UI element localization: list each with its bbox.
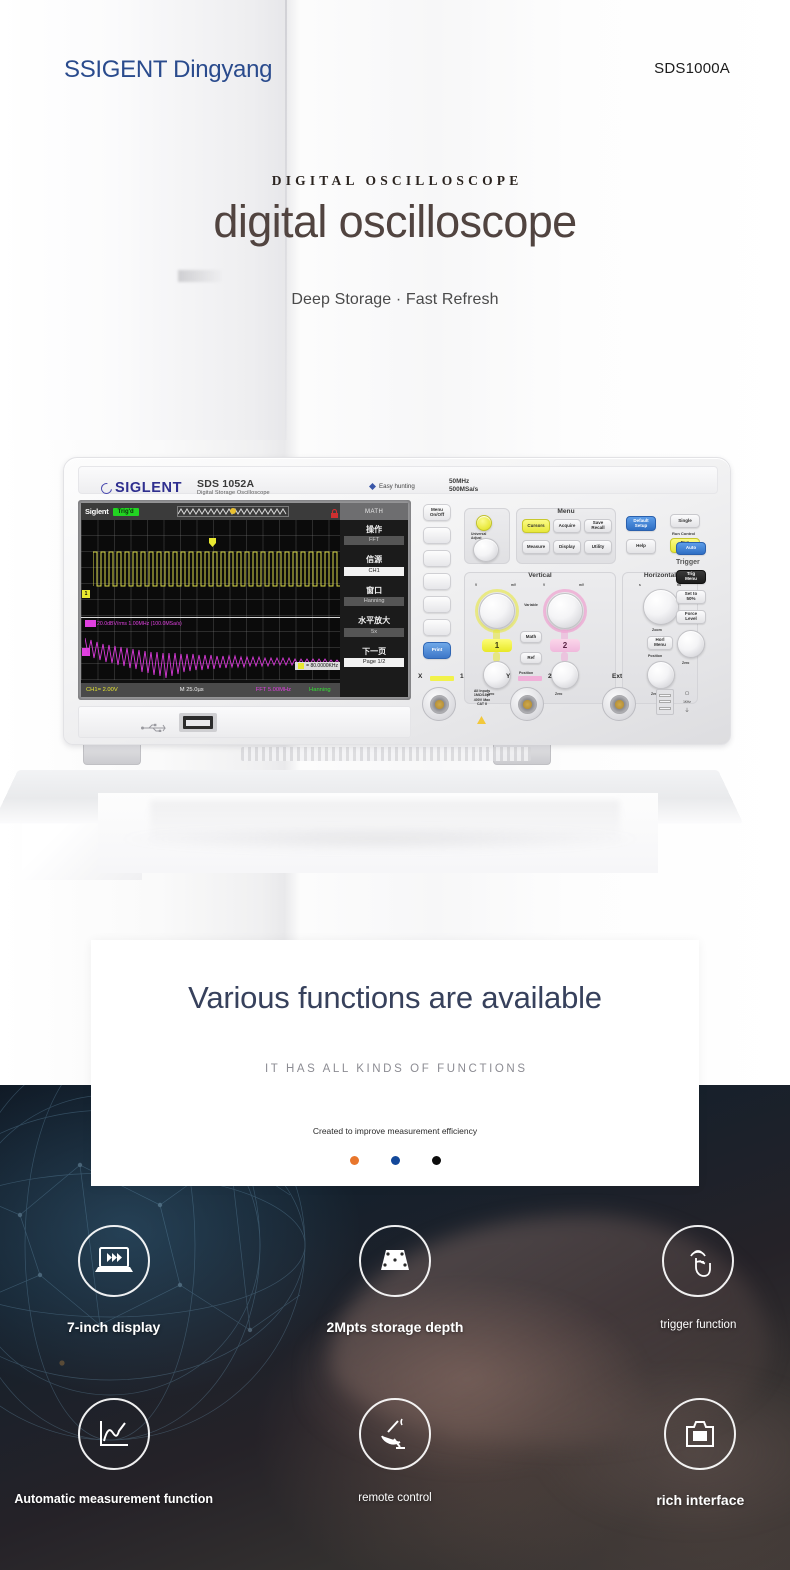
menu-item-label: 水平放大 [340, 617, 408, 626]
siglent-swirl-icon [99, 480, 114, 495]
card-subtitle: IT HAS ALL KINDS OF FUNCTIONS [91, 1063, 699, 1075]
status-window: Hanning [309, 687, 331, 693]
waveform-chart-icon [78, 1398, 150, 1470]
section-intro-card: Various functions are available IT HAS A… [91, 940, 699, 1186]
scope-chassis: SIGLENT SDS 1052A Digital Storage Oscill… [63, 457, 731, 745]
ch2-button[interactable]: 2 [550, 639, 580, 652]
scope-display: Siglent Trig'd [81, 503, 408, 697]
variable-label: Variable [520, 603, 542, 607]
feature-label: rich interface [656, 1492, 744, 1508]
scope-model-number: SDS 1052A [197, 478, 270, 490]
satellite-dish-icon [359, 1398, 431, 1470]
trigger-level-knob[interactable] [677, 630, 705, 658]
force-level-button[interactable]: ForceLevel [676, 610, 706, 624]
storage-depth-icon [359, 1225, 431, 1297]
print-button[interactable]: Print [423, 642, 451, 659]
universal-knob-led [476, 515, 492, 531]
waveform-area: Siglent Trig'd [81, 503, 340, 697]
menu-item-label: 窗口 [340, 587, 408, 596]
menu-item-value: CH1 [344, 567, 404, 576]
display-button[interactable]: Display [553, 540, 581, 554]
usb-port-inner [183, 716, 213, 729]
menu-item-label: 信源 [340, 556, 408, 565]
display-status-bar: CH1= 2.00V M 25.0µs FFT 5.00MHz Hanning [81, 683, 345, 697]
ext-trigger-label: Ext [612, 673, 622, 680]
display-brand-label: Siglent [85, 507, 109, 516]
zoom-label: Zoom [652, 628, 662, 632]
softkey-1[interactable] [423, 527, 451, 544]
dot-indicator-3[interactable] [432, 1156, 441, 1165]
ch2-color-swatch [518, 676, 542, 681]
feature-label: remote control [358, 1492, 432, 1504]
scope-foot-left [83, 743, 141, 765]
input-rating-note: All Inputs1MΩ/18pf400V MaxCAT II [464, 689, 500, 707]
feature-row-2: Automatic measurement function remote co… [0, 1398, 790, 1508]
ground-icon: ⏚ [684, 707, 689, 714]
front-panel-strip [78, 706, 411, 738]
usb-host-port[interactable] [179, 713, 217, 732]
carousel-dots [91, 1156, 699, 1165]
easy-hunting-badge: Easy hunting [369, 483, 415, 490]
ch2-scale-max-label: mV [579, 583, 584, 587]
hero-kicker: DIGITAL OSCILLOSCOPE [0, 173, 790, 189]
usb-symbol-icon [141, 719, 167, 728]
channel2-color-chip [85, 620, 96, 627]
softkey-4[interactable] [423, 596, 451, 613]
save-recall-button[interactable]: SaveRecall [584, 519, 612, 533]
input-connector-row: X 1 All Inputs1MΩ/18pf400V MaxCAT II Y 2… [416, 673, 718, 737]
channel1-ground-marker: 1 [82, 590, 90, 598]
probe-comp-icons: ⎔ 1KHz ⏚ [678, 689, 696, 715]
feature-label: Automatic measurement function [14, 1492, 213, 1506]
y-axis-label: Y [506, 673, 510, 680]
scope-display-frame: Siglent Trig'd [78, 500, 411, 700]
touch-trigger-icon [662, 1225, 734, 1297]
measure-button[interactable]: Measure [522, 540, 550, 554]
brand-logo-text: SSIGENT Dingyang [64, 56, 272, 84]
fft-info-label: 20.0dBV/rms 1.00MHz (100.0MSa/s) [97, 621, 182, 627]
dot-indicator-2[interactable] [391, 1156, 400, 1165]
menu-item-value: 5x [344, 628, 404, 637]
square-wave-icon: ⎔ [685, 691, 689, 697]
feature-grid: 7-inch display 2Mpts storage depth [0, 1225, 790, 1508]
menu-item-value: Page 1/2 [344, 658, 404, 667]
feature-item-interface[interactable]: rich interface [569, 1398, 790, 1508]
cursor-readout-value: = 80.0000KHz [306, 663, 338, 669]
ch1-scale-max-label: mV [511, 583, 516, 587]
acquire-button[interactable]: Acquire [553, 519, 581, 533]
card-title: Various functions are available [91, 980, 699, 1016]
scope-top-bezel: SIGLENT SDS 1052A Digital Storage Oscill… [78, 466, 718, 494]
display-softkey-menu: MATH 操作 FFT 信源 CH1 窗口 Hanning [340, 503, 408, 697]
menu-item-value: Hanning [344, 597, 404, 606]
single-button[interactable]: Single [670, 514, 700, 528]
set-to-50-button[interactable]: Set to50% [676, 590, 706, 604]
trigger-group-label: Trigger [676, 559, 700, 566]
horizontal-position-label: Position [648, 654, 662, 658]
warning-triangle-icon [477, 716, 486, 724]
laptop-fast-forward-icon [78, 1225, 150, 1297]
lock-icon [330, 506, 339, 516]
oscilloscope-product-image: SIGLENT SDS 1052A Digital Storage Oscill… [63, 457, 731, 755]
display-topbar: Siglent Trig'd [81, 503, 345, 520]
trigger-zero-label: Zero [682, 661, 689, 665]
ch2-bnc-connector[interactable] [510, 687, 544, 721]
bnc-center-pin [610, 695, 629, 714]
model-series-tag: SDS1000A [654, 60, 730, 77]
auto-button[interactable]: Auto [676, 542, 706, 555]
status-fft-freq: FFT 5.00MHz [256, 687, 291, 693]
bnc-center-pin [518, 695, 537, 714]
menu-item-label: 下一页 [340, 648, 408, 657]
feature-item-remote[interactable]: remote control [263, 1398, 526, 1508]
menu-item[interactable]: 下一页 Page 1/2 [340, 642, 408, 673]
ch1-button[interactable]: 1 [482, 639, 512, 652]
menu-item-value: FFT [344, 536, 404, 545]
ch1-input-number: 1 [460, 673, 464, 680]
ports-interface-icon [664, 1398, 736, 1470]
cursor-frequency-readout: = 80.0000KHz [295, 662, 341, 670]
default-setup-button[interactable]: DefaultSetup [626, 516, 656, 531]
universal-knob-group: UniversalAdjust [464, 508, 510, 564]
softkey-5[interactable] [423, 619, 451, 636]
trigger-status-badge: Trig'd [113, 508, 139, 516]
feature-item-trigger[interactable]: trigger function [567, 1225, 790, 1335]
menu-item[interactable]: 操作 FFT [340, 520, 408, 551]
waveform-grid: 1 20.0dBV/rms 1.00MHz (100.0MSa/s) [81, 520, 345, 680]
cursors-button[interactable]: Cursors [522, 519, 550, 533]
status-ch1-scale: CH1= 2.00V [86, 687, 118, 693]
scope-model-subtitle: Digital Storage Oscilloscope [197, 490, 270, 496]
ch2-volts-div-knob[interactable] [547, 593, 583, 629]
scope-samplerate: 500MSa/s [449, 486, 478, 494]
bnc-center-pin [430, 695, 449, 714]
menu-title: MATH [340, 503, 408, 520]
hero-tagline: Deep Storage · Fast Refresh [0, 291, 790, 309]
universal-adjust-knob[interactable] [473, 538, 499, 562]
feature-item-auto-measure[interactable]: Automatic measurement function [0, 1398, 245, 1508]
probe-comp-terminal[interactable] [656, 689, 674, 715]
scope-model-block: SDS 1052A Digital Storage Oscilloscope [197, 478, 270, 496]
waveform-overview-strip [177, 506, 289, 517]
product-page: SSIGENT Dingyang SDS1000A DIGITAL OSCILL… [0, 0, 790, 1570]
ch1-volts-div-knob[interactable] [479, 593, 515, 629]
math-button[interactable]: Math [520, 631, 542, 643]
ext-bnc-connector[interactable] [602, 687, 636, 721]
vertical-group-label: Vertical [465, 572, 615, 579]
utility-button[interactable]: Utility [584, 540, 612, 554]
menu-group-label: Menu [517, 508, 615, 515]
feature-item-display[interactable]: 7-inch display [0, 1225, 245, 1335]
status-timebase: M 25.0µs [180, 687, 204, 693]
scope-bandwidth: 50MHz [449, 478, 478, 486]
hero-headline: digital oscilloscope [0, 196, 790, 248]
siglent-logo: SIGLENT [101, 480, 182, 496]
feature-row-1: 7-inch display 2Mpts storage depth [0, 1225, 790, 1335]
softkey-2[interactable] [423, 550, 451, 567]
ref-button[interactable]: Ref [520, 652, 542, 664]
menu-item[interactable]: 窗口 Hanning [340, 581, 408, 612]
feature-label: trigger function [660, 1319, 736, 1331]
scope-spec-block: 50MHz 500MSa/s [449, 478, 478, 495]
menu-item[interactable]: 水平放大 5x [340, 612, 408, 643]
menu-on-off-button[interactable]: MenuOn/Off [423, 504, 451, 521]
feature-label: 7-inch display [67, 1319, 160, 1335]
x-axis-label: X [418, 673, 422, 680]
cursor-color-dot [298, 663, 304, 669]
horizontal-menu-button[interactable]: HorlMenu [647, 636, 673, 650]
ch1-color-swatch [430, 676, 454, 681]
ch2-input-number: 2 [548, 673, 552, 680]
menu-item-label: 操作 [340, 526, 408, 535]
feature-label: 2Mpts storage depth [327, 1319, 464, 1335]
fft-spectrum-trace [85, 632, 341, 680]
timebase-min-label: s [639, 583, 641, 587]
help-button[interactable]: Help [626, 539, 656, 554]
ch2-scale-min-label: V [543, 583, 545, 587]
card-note: Created to improve measurement efficienc… [91, 1126, 699, 1136]
menu-item[interactable]: 信源 CH1 [340, 551, 408, 582]
menu-button-group: Menu Cursors Acquire SaveRecall Measure … [516, 508, 616, 564]
diamond-icon [369, 483, 376, 490]
softkey-3[interactable] [423, 573, 451, 590]
easy-hunting-label: Easy hunting [379, 483, 415, 490]
product-shadow [120, 826, 640, 852]
dot-indicator-1[interactable] [350, 1156, 359, 1165]
display-split-line [81, 617, 345, 618]
comp-freq-label: 1KHz [683, 700, 691, 704]
feature-item-storage[interactable]: 2Mpts storage depth [263, 1225, 526, 1335]
ch1-scale-min-label: V [475, 583, 477, 587]
ch1-bnc-connector[interactable] [422, 687, 456, 721]
channel1-square-wave [93, 546, 341, 592]
trig-menu-button[interactable]: TrigMenu [676, 570, 706, 584]
hero-decoration [178, 270, 224, 282]
scope-rear-vent [241, 747, 531, 761]
